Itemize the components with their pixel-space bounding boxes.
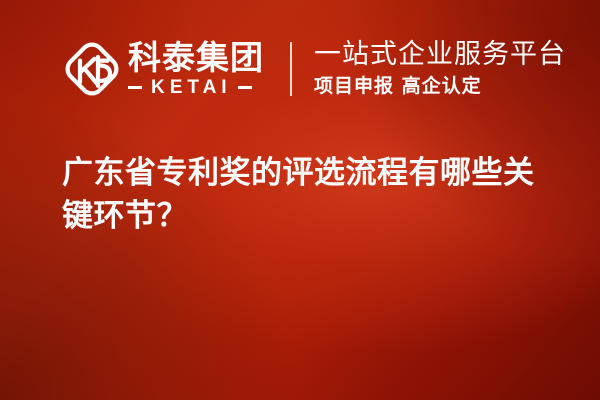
wordmark-rule-left [128, 86, 142, 89]
header-slogan-block: 一站式企业服务平台 项目申报 高企认定 [314, 38, 566, 100]
banner-header: 科泰集团 KETAI 一站式企业服务平台 项目申报 高企认定 [62, 34, 566, 104]
ketai-kt-monogram-icon [62, 39, 122, 99]
wordmark-rule-right [238, 86, 252, 89]
brand-name-english: KETAI [142, 78, 238, 97]
brand-name-english-row: KETAI [128, 78, 264, 97]
banner-headline: 广东省专利奖的评选流程有哪些关键环节？ [62, 152, 558, 238]
promo-banner: 科泰集团 KETAI 一站式企业服务平台 项目申报 高企认定 广东省专利奖的评选… [0, 0, 600, 400]
brand-logo-wordmark: 科泰集团 KETAI [128, 38, 264, 100]
brand-name-chinese: 科泰集团 [128, 41, 264, 75]
header-vertical-divider [290, 42, 292, 96]
brand-logo[interactable]: 科泰集团 KETAI [62, 37, 264, 101]
header-slogan-subtitle: 项目申报 高企认定 [314, 75, 566, 98]
header-slogan-title: 一站式企业服务平台 [314, 40, 566, 70]
